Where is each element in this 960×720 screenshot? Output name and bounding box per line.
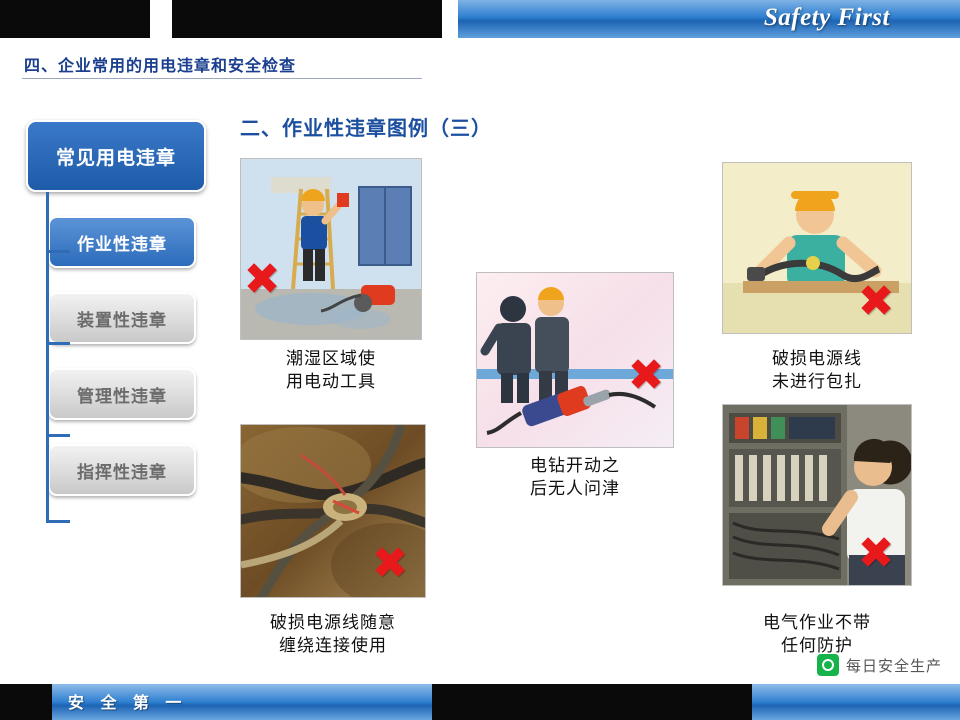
- x-mark-icon-2: ✖: [628, 358, 664, 394]
- top-banner: Safety First: [0, 0, 960, 38]
- flow-connector-vertical: [46, 192, 49, 520]
- figure-caption-unattended-drill: 电钻开动之 后无人问津: [476, 455, 674, 501]
- figure-caption-no-ppe-electrical-work: 电气作业不带 任何防护: [716, 612, 918, 658]
- bottom-banner: 安 全 第 一: [0, 684, 960, 720]
- illustration-wet-area-power-tool: [241, 159, 422, 340]
- section-divider: [22, 78, 422, 79]
- flow-chart: 常见用电违章 作业性违章 装置性违章 管理性违章 指挥性违章: [26, 120, 216, 496]
- x-mark-icon-3: ✖: [858, 284, 894, 320]
- bottom-blue-segment-2: [752, 684, 960, 720]
- caption-line-2: 后无人问津: [476, 478, 674, 501]
- flow-node-equipment[interactable]: 装置性违章: [48, 292, 196, 344]
- flow-node-command[interactable]: 指挥性违章: [48, 444, 196, 496]
- figure-image-wet-area-power-tool: [240, 158, 422, 340]
- figure-caption-wet-area-power-tool: 潮湿区域使 用电动工具: [240, 348, 422, 394]
- caption-line-1: 破损电源线: [722, 348, 912, 371]
- bottom-black-segment-2: [432, 684, 752, 720]
- caption-line-1: 电钻开动之: [476, 455, 674, 478]
- caption-line-2: 用电动工具: [240, 371, 422, 394]
- figure-caption-damaged-cord-twisted: 破损电源线随意 缠绕连接使用: [230, 612, 436, 658]
- banner-white-gap-1: [150, 0, 172, 38]
- wechat-logo-icon: [817, 654, 839, 676]
- figure-caption-damaged-cord-unwrapped: 破损电源线 未进行包扎: [722, 348, 912, 394]
- flow-connector-h-3: [46, 434, 70, 437]
- x-mark-icon-1: ✖: [244, 262, 280, 298]
- banner-white-gap-2: [442, 0, 458, 38]
- caption-line-1: 电气作业不带: [716, 612, 918, 635]
- section-heading: 四、企业常用的用电违章和安全检查: [24, 52, 296, 76]
- caption-line-2: 缠绕连接使用: [230, 635, 436, 658]
- watermark-text: 每日安全生产: [846, 655, 942, 676]
- bottom-black-segment-1: [0, 684, 52, 720]
- watermark: 每日安全生产: [817, 654, 942, 676]
- banner-title: Safety First: [764, 4, 890, 32]
- flow-node-operational[interactable]: 作业性违章: [48, 216, 196, 268]
- caption-line-1: 破损电源线随意: [230, 612, 436, 635]
- flow-node-main[interactable]: 常见用电违章: [26, 120, 206, 192]
- banner-black-segment-1: [0, 0, 150, 38]
- caption-line-1: 潮湿区域使: [240, 348, 422, 371]
- x-mark-icon-5: ✖: [858, 536, 894, 572]
- bottom-banner-label: 安 全 第 一: [68, 689, 187, 713]
- banner-black-segment-2: [172, 0, 442, 38]
- flow-connector-h-2: [46, 342, 70, 345]
- x-mark-icon-4: ✖: [372, 546, 408, 582]
- flow-connector-h-4: [46, 520, 70, 523]
- flow-connector-h-1: [46, 250, 70, 253]
- content-title: 二、作业性违章图例（三）: [240, 112, 492, 141]
- flow-node-management[interactable]: 管理性违章: [48, 368, 196, 420]
- caption-line-2: 未进行包扎: [722, 371, 912, 394]
